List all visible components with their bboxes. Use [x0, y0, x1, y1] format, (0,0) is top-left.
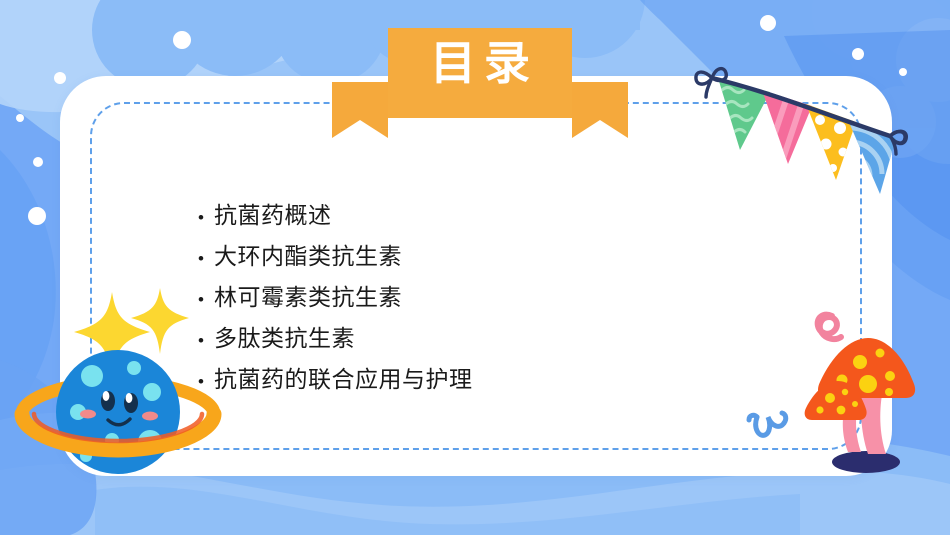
list-item[interactable]: • 多肽类抗生素 [198, 319, 668, 360]
list-item-label: 抗菌药概述 [214, 196, 668, 234]
table-of-contents-list: • 抗菌药概述 • 大环内酯类抗生素 • 林可霉素类抗生素 • 多肽类抗生素 •… [198, 196, 668, 401]
bullet-icon: • [198, 363, 214, 401]
bullet-icon: • [198, 281, 214, 319]
list-item[interactable]: • 林可霉素类抗生素 [198, 278, 668, 319]
bullet-icon: • [198, 240, 214, 278]
ribbon-title-text: 目录 [330, 28, 630, 98]
bullet-icon: • [198, 199, 214, 237]
title-ribbon: 目录 [330, 28, 630, 138]
list-item-label: 林可霉素类抗生素 [214, 278, 668, 316]
list-item-label: 多肽类抗生素 [214, 319, 668, 357]
slide-canvas: 目录 • 抗菌药概述 • 大环内酯类抗生素 • 林可霉素类抗生素 • 多肽类抗生… [0, 0, 950, 535]
list-item[interactable]: • 抗菌药概述 [198, 196, 668, 237]
bow-knot-right [890, 131, 906, 154]
bullet-icon: • [198, 322, 214, 360]
list-item[interactable]: • 抗菌药的联合应用与护理 [198, 360, 668, 401]
list-item[interactable]: • 大环内酯类抗生素 [198, 237, 668, 278]
list-item-label: 抗菌药的联合应用与护理 [214, 360, 668, 398]
list-item-label: 大环内酯类抗生素 [214, 237, 668, 275]
